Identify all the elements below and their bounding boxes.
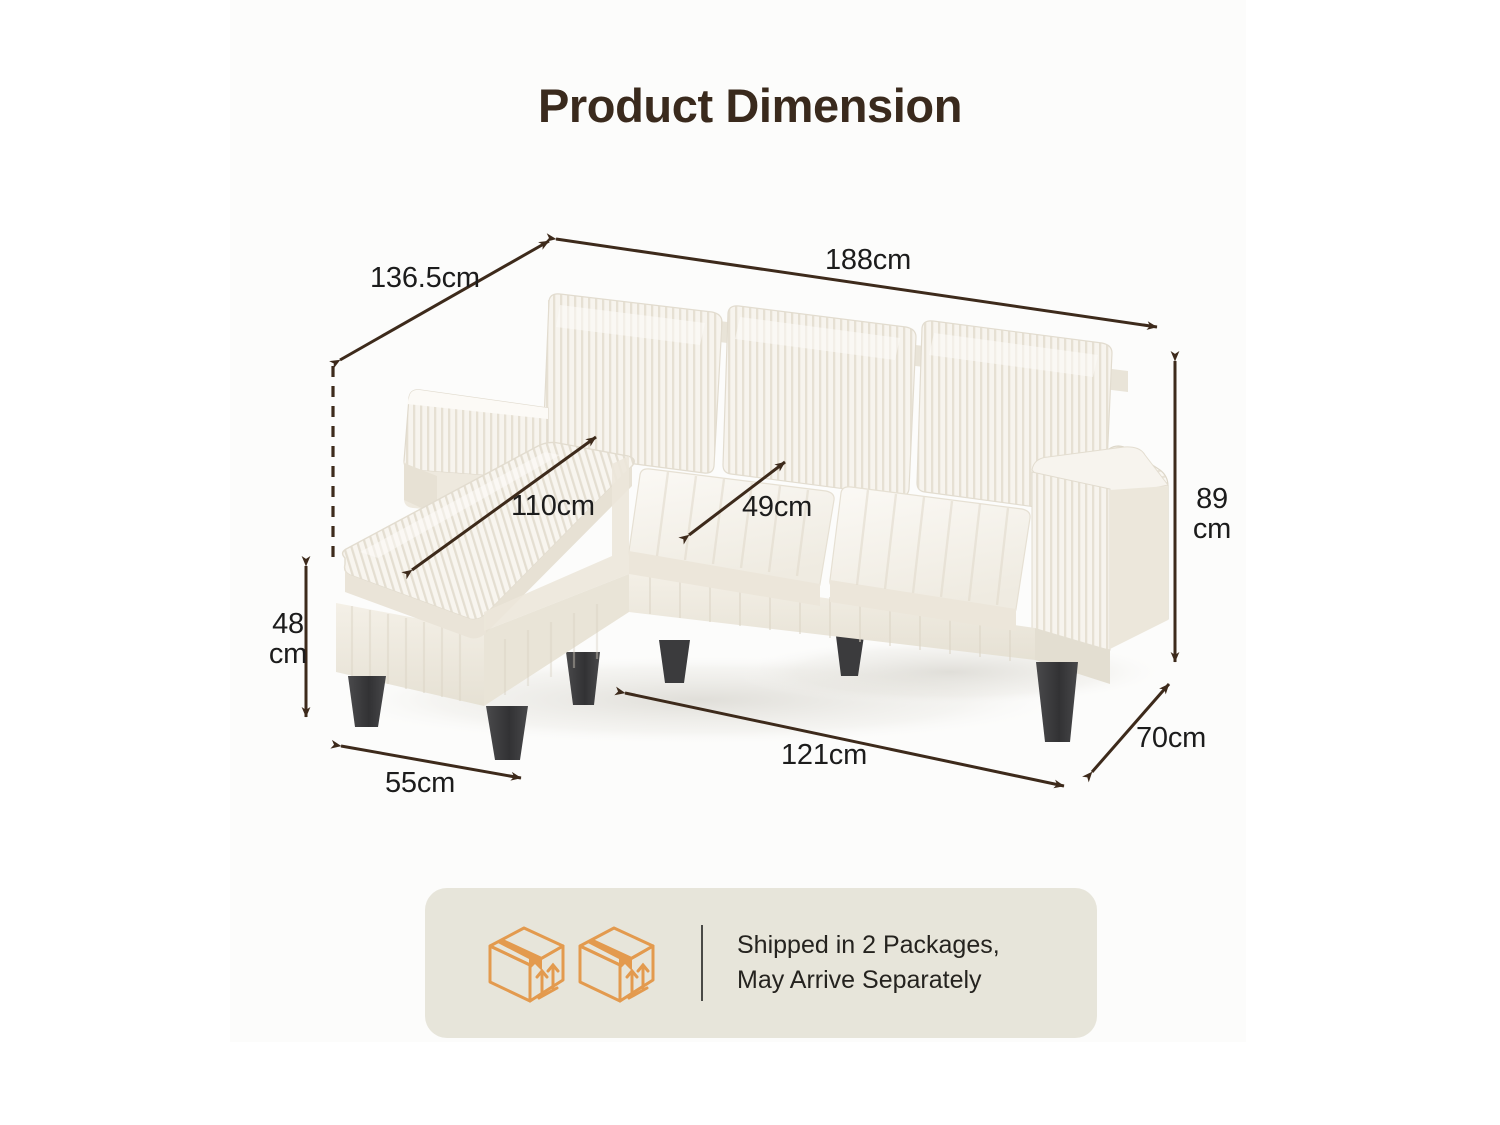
dimension-label-89-line2: cm — [1193, 513, 1231, 545]
banner-text: Shipped in 2 Packages, May Arrive Separa… — [737, 928, 1000, 999]
dimension-label-70: 70cm — [1136, 723, 1206, 753]
banner-text-line-1: Shipped in 2 Packages, — [737, 928, 1000, 964]
package-box-icon-1 — [485, 920, 569, 1006]
package-box-icon-2 — [575, 920, 659, 1006]
dimension-label-48: 48cm — [260, 609, 316, 670]
dimension-label-121: 121cm — [781, 740, 867, 770]
dimension-label-89: 89cm — [1184, 484, 1240, 545]
shipping-banner: Shipped in 2 Packages, May Arrive Separa… — [425, 888, 1097, 1038]
dimension-label-49: 49cm — [742, 492, 812, 522]
dimension-label-110: 110cm — [511, 491, 595, 521]
shipping-boxes-icon — [485, 920, 659, 1006]
dimension-label-188: 188cm — [825, 245, 911, 275]
dimension-label-48-line1: 48 — [272, 608, 304, 640]
dimension-arrow-136 — [340, 241, 549, 360]
product-dimension-page: Product Dimension — [0, 0, 1500, 1125]
dimension-label-89-line1: 89 — [1196, 483, 1228, 515]
dimension-label-55: 55cm — [385, 768, 455, 798]
dimension-label-48-line2: cm — [269, 638, 307, 670]
banner-text-line-2: May Arrive Separately — [737, 963, 1000, 999]
banner-divider — [701, 925, 703, 1001]
dimension-label-136: 136.5cm — [370, 263, 480, 293]
